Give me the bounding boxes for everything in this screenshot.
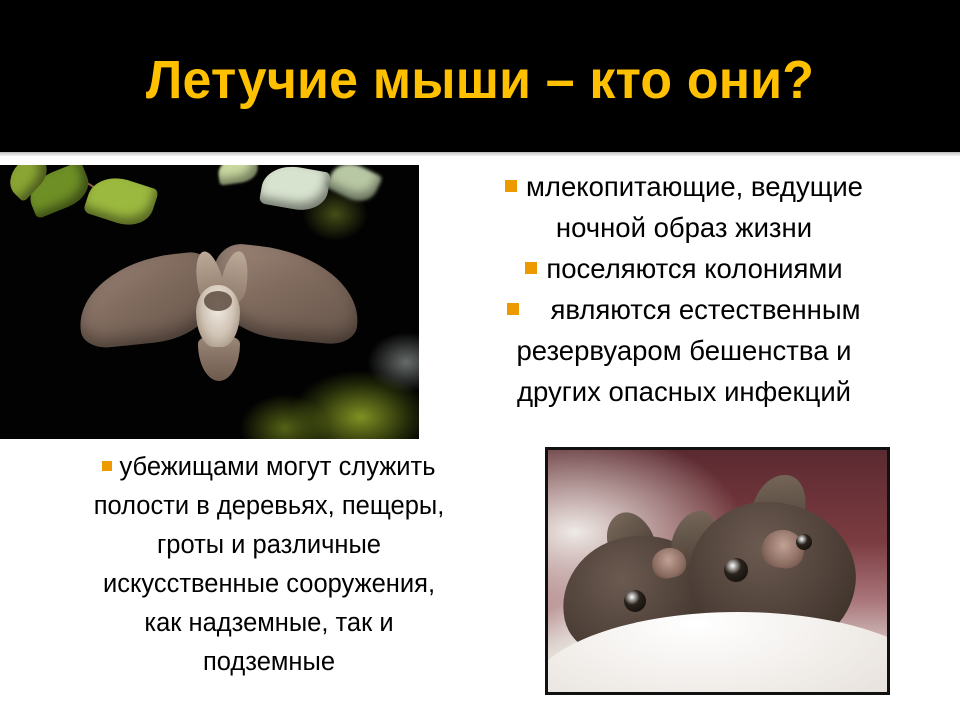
list-item-continuation: ночной образ жизни: [424, 207, 944, 248]
slide: Летучие мыши – кто они? млекопитающие, в…: [0, 0, 960, 720]
bat-face: [204, 291, 232, 311]
bullet-text: подземные: [203, 648, 335, 676]
bullet-text: гроты и различные: [157, 531, 381, 559]
vampire-bat-pair-photo: [545, 447, 890, 695]
bullet-text: искусственные сооружения,: [103, 570, 435, 598]
title-band: Летучие мыши – кто они?: [0, 0, 960, 152]
bat-eye: [796, 534, 812, 550]
list-item: являются естественным: [424, 289, 944, 330]
flying-bat-photo: [0, 165, 419, 439]
bullet-text: млекопитающие, ведущие: [526, 171, 863, 202]
bullet-text: полости в деревьях, пещеры,: [94, 492, 445, 520]
bullet-text: поселяются колониями: [546, 253, 842, 284]
list-item: поселяются колониями: [424, 248, 944, 289]
list-item-continuation: как надземные, так и: [24, 604, 514, 643]
bullet-text: являются естественным: [550, 294, 860, 325]
bullet-text: как надземные, так и: [144, 609, 393, 637]
list-item-continuation: других опасных инфекций: [424, 371, 944, 412]
square-bullet-icon: [505, 180, 517, 192]
page-title: Летучие мыши – кто они?: [146, 52, 814, 109]
bullet-text: ночной образ жизни: [556, 212, 812, 243]
list-item: убежищами могут служить: [24, 448, 514, 487]
square-bullet-icon: [507, 303, 519, 315]
bullet-text: резервуаром бешенства и: [517, 335, 852, 366]
title-divider: [0, 152, 960, 156]
square-bullet-icon: [102, 461, 112, 471]
bat-eye: [624, 590, 646, 612]
bottom-left-bullet-list: убежищами могут служить полости в деревь…: [24, 448, 514, 682]
list-item: млекопитающие, ведущие: [424, 166, 944, 207]
square-bullet-icon: [525, 262, 537, 274]
bullet-text: убежищами могут служить: [119, 453, 435, 481]
list-item-continuation: полости в деревьях, пещеры,: [24, 487, 514, 526]
right-bullet-list: млекопитающие, ведущие ночной образ жизн…: [424, 166, 944, 412]
bullet-text: других опасных инфекций: [517, 376, 851, 407]
list-item-continuation: гроты и различные: [24, 526, 514, 565]
list-item-continuation: резервуаром бешенства и: [424, 330, 944, 371]
list-item-continuation: искусственные сооружения,: [24, 565, 514, 604]
list-item-continuation: подземные: [24, 643, 514, 682]
bat-eye: [724, 558, 748, 582]
